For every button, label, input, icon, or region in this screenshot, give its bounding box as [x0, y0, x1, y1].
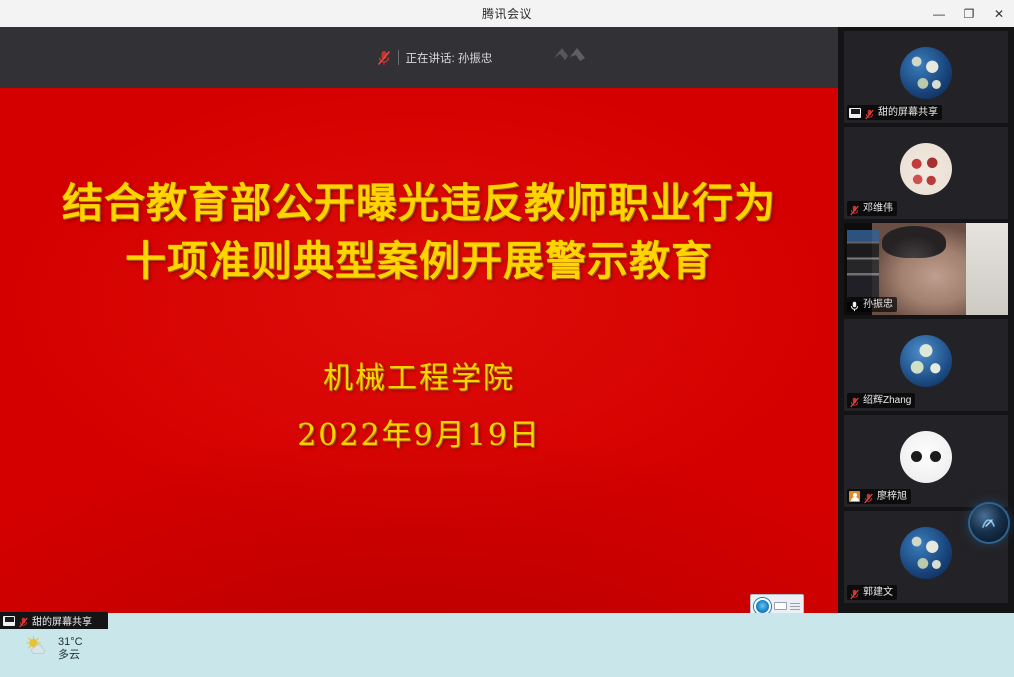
speaking-label: 正在讲话: 孙振忠 — [406, 50, 493, 66]
share-menu-icon[interactable] — [790, 603, 800, 610]
tencent-meeting-logo-icon — [551, 44, 591, 71]
screen-share-floating-bar[interactable]: 甜的屏幕共享 — [0, 612, 108, 629]
mic-muted-red-icon — [864, 107, 875, 118]
minimize-button[interactable]: — — [924, 0, 954, 27]
meeting-window: 正在讲话: 孙振忠 结合教育部公开曝光违反教师职业行为 十项准则典型案例开展警示… — [0, 27, 1014, 640]
slide-date: 2022年9月19日 — [297, 410, 541, 454]
participant-name-badge: 郭建文 — [847, 585, 897, 600]
participant-name: 邓维伟 — [863, 202, 893, 215]
participant-name: 甜的屏幕共享 — [878, 106, 938, 119]
share-pause-icon[interactable] — [754, 598, 771, 615]
participant-name-badge: 邓维伟 — [847, 201, 897, 216]
weather-widget[interactable]: 31°C 多云 — [24, 635, 83, 662]
participant-rail[interactable]: 甜的屏幕共享 邓维伟 孙振忠 — [838, 27, 1014, 640]
sun-cloud-icon — [24, 635, 50, 662]
participant-tile[interactable]: 甜的屏幕共享 — [844, 31, 1008, 123]
speaking-indicator-bar: 正在讲话: 孙振忠 — [0, 27, 838, 88]
share-panel-icon[interactable] — [774, 602, 787, 610]
mic-muted-red-icon — [849, 587, 860, 598]
slide-title-line-2: 十项准则典型案例开展警示教育 — [125, 232, 713, 290]
mic-muted-red-icon — [18, 615, 29, 626]
participant-name: 廖梓旭 — [877, 490, 907, 503]
assistant-orb-icon[interactable] — [970, 504, 1008, 542]
participant-name: 郭建文 — [863, 586, 893, 599]
mic-muted-red-icon — [849, 203, 860, 214]
avatar — [900, 335, 952, 387]
mic-muted-red-icon — [377, 50, 391, 66]
mic-active-white-icon — [849, 299, 860, 310]
desktop-area: 甜的屏幕共享 31°C 多云 — [0, 613, 1014, 677]
window-title: 腾讯会议 — [0, 5, 924, 22]
participant-tile[interactable]: 绍辉Zhang — [844, 319, 1008, 411]
slide-organization: 机械工程学院 — [323, 353, 515, 397]
shared-content-stage: 正在讲话: 孙振忠 结合教育部公开曝光违反教师职业行为 十项准则典型案例开展警示… — [0, 27, 838, 640]
window-controls: — ❐ ✕ — [924, 0, 1014, 27]
screen-share-icon — [3, 616, 15, 626]
participant-tile[interactable]: 廖梓旭 — [844, 415, 1008, 507]
mic-muted-red-icon — [849, 395, 860, 406]
participant-tile[interactable]: 孙振忠 — [844, 223, 1008, 315]
host-badge-icon — [849, 491, 860, 502]
weather-condition: 多云 — [58, 649, 83, 662]
participant-name-badge: 孙振忠 — [847, 297, 897, 312]
close-button[interactable]: ✕ — [984, 0, 1014, 27]
participant-name-badge: 廖梓旭 — [847, 489, 911, 504]
screen-share-icon — [849, 108, 861, 118]
share-bar-label: 甜的屏幕共享 — [32, 613, 92, 628]
shared-slide: 结合教育部公开曝光违反教师职业行为 十项准则典型案例开展警示教育 机械工程学院 … — [0, 88, 838, 622]
participant-name-badge: 甜的屏幕共享 — [847, 105, 942, 120]
participant-tile[interactable]: 邓维伟 — [844, 127, 1008, 219]
window-title-bar: 腾讯会议 — ❐ ✕ — [0, 0, 1014, 27]
maximize-button[interactable]: ❐ — [954, 0, 984, 27]
participant-name-badge: 绍辉Zhang — [847, 393, 915, 408]
divider — [398, 50, 399, 65]
avatar — [900, 431, 952, 483]
mic-muted-red-icon — [863, 491, 874, 502]
participant-name: 绍辉Zhang — [863, 394, 911, 407]
participant-name: 孙振忠 — [863, 298, 893, 311]
slide-title-line-1: 结合教育部公开曝光违反教师职业行为 — [62, 174, 776, 232]
weather-temperature: 31°C — [58, 636, 83, 649]
avatar — [900, 527, 952, 579]
avatar — [900, 47, 952, 99]
avatar — [900, 143, 952, 195]
